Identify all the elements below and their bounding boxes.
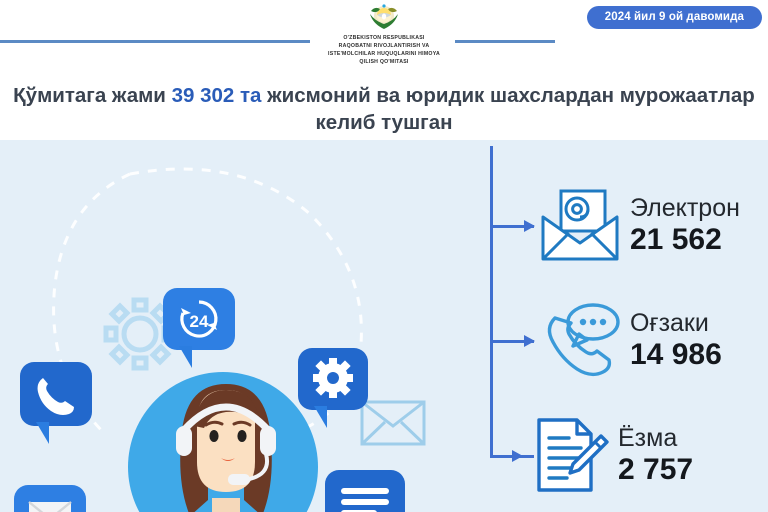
date-period-badge: 2024 йил 9 ой давомида [587, 6, 762, 29]
stat-text-yozma: Ёзма 2 757 [618, 425, 693, 487]
arrow-3-icon [490, 455, 522, 458]
stat-label: Электрон [630, 195, 740, 221]
org-line-3: ISTE'MOLCHILAR HUQUQLARINI HIMOYA [0, 50, 768, 58]
mail-bubble-icon [14, 485, 86, 512]
bubble-24-label: 24 [190, 312, 209, 331]
stat-row-electron: Электрон 21 562 [490, 182, 740, 270]
org-line-2: RAQOBATNI RIVOJLANTIRISH VA [0, 42, 768, 50]
document-pencil-icon [522, 412, 614, 500]
page-title: Қўмитага жами 39 302 та жисмоний ва юрид… [0, 82, 768, 137]
arrow-2-icon [490, 340, 534, 343]
stat-value: 2 757 [618, 453, 693, 487]
uzbekistan-state-emblem-icon [367, 2, 401, 32]
envelope-outline-icon [360, 398, 426, 448]
stat-label: Оғзаки [630, 310, 722, 336]
operator-figure [120, 370, 330, 512]
support-24-bubble-icon: 24 [163, 288, 235, 350]
stat-value: 21 562 [630, 223, 740, 257]
phone-bubble-icon [20, 362, 92, 426]
phone-speech-bubble-icon [534, 297, 626, 385]
header: O'ZBEKISTON RESPUBLIKASI RAQOBATNI RIVOJ… [0, 0, 768, 78]
headline-total-number: 39 302 та [172, 84, 262, 107]
stat-row-ogzaki: Оғзаки 14 986 [490, 297, 722, 385]
stat-label: Ёзма [618, 425, 693, 451]
infographic-page: O'ZBEKISTON RESPUBLIKASI RAQOBATNI RIVOJ… [0, 0, 768, 512]
org-line-1: O'ZBEKISTON RESPUBLIKASI [0, 34, 768, 42]
stat-text-ogzaki: Оғзаки 14 986 [630, 310, 722, 372]
statistics-list: Электрон 21 562 [470, 140, 768, 512]
main-panel: 24 [0, 140, 768, 512]
stat-text-electron: Электрон 21 562 [630, 195, 740, 257]
organization-name: O'ZBEKISTON RESPUBLIKASI RAQOBATNI RIVOJ… [0, 34, 768, 66]
email-at-envelope-icon [534, 182, 626, 270]
headline-after: жисмоний ва юридик шахслардан мурожаатла… [267, 84, 755, 134]
stat-value: 14 986 [630, 338, 722, 372]
call-center-operator-illustration: 24 [0, 140, 470, 512]
org-line-4: QILISH QO'MITASI [0, 58, 768, 66]
arrow-1-icon [490, 225, 534, 228]
headline-before: Қўмитага жами [13, 84, 166, 107]
chat-lines-bubble-icon [325, 470, 405, 512]
stat-row-yozma: Ёзма 2 757 [490, 412, 693, 500]
